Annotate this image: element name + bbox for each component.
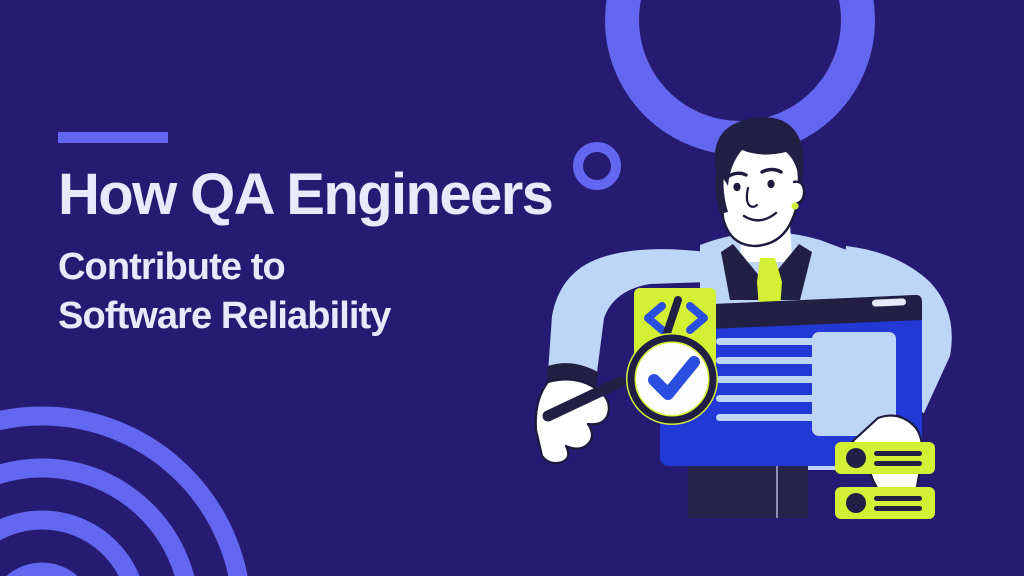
server-unit-top <box>835 442 935 474</box>
character-earring <box>791 202 798 209</box>
character-eye-left <box>733 183 740 191</box>
server-led-bottom <box>846 493 866 513</box>
accent-bar <box>58 132 168 143</box>
server-unit-bottom <box>835 487 935 519</box>
banner: How QA Engineers Contribute to Software … <box>0 0 1024 576</box>
server-led-top <box>846 448 866 468</box>
character-eye-right <box>767 180 774 188</box>
magnifier-lens <box>636 343 708 415</box>
headline-group: How QA Engineers Contribute to Software … <box>58 132 658 341</box>
desk-base <box>688 466 808 518</box>
character-ear <box>793 182 804 204</box>
browser-window-control <box>872 298 906 306</box>
subtitle-line-2: Software Reliability <box>58 292 658 341</box>
page-title: How QA Engineers <box>58 165 658 225</box>
desk-seam <box>776 466 778 518</box>
subtitle-line-1: Contribute to <box>58 243 658 292</box>
